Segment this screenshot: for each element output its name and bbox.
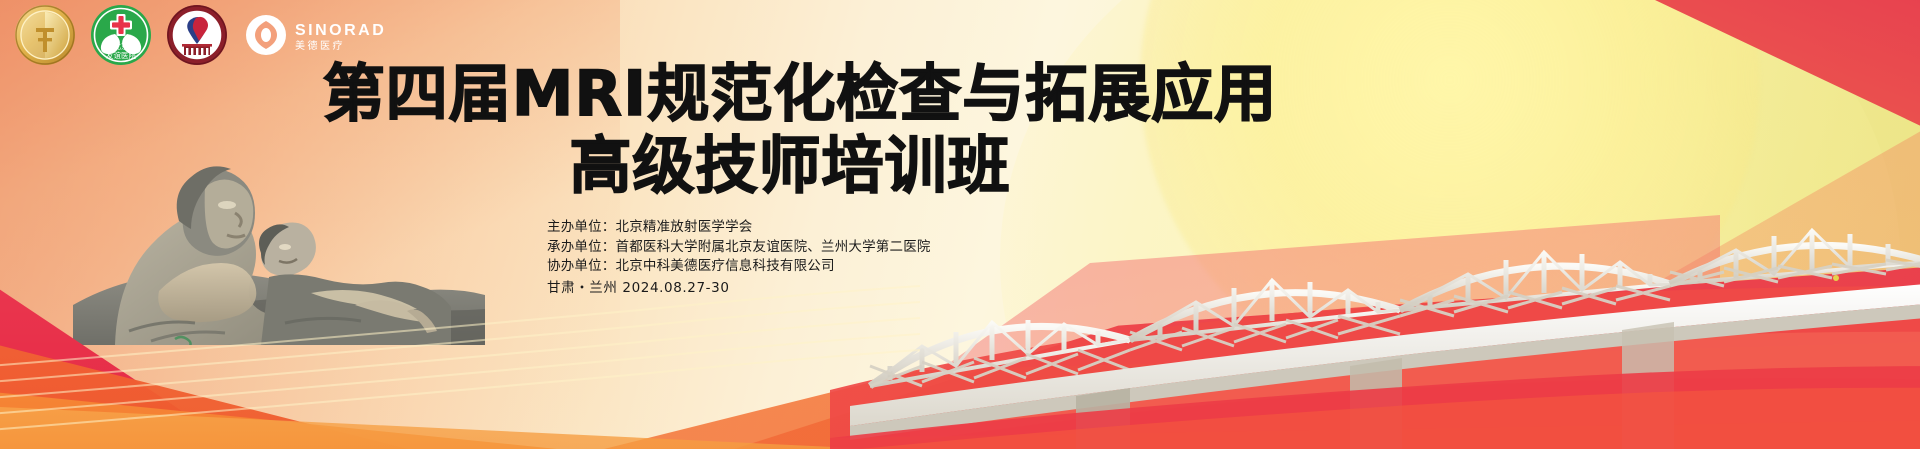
host-line: 承办单位：首都医科大学附属北京友谊医院、兰州大学第二医院 [547,238,931,258]
credits-block: 主办单位：北京精准放射医学学会 承办单位：首都医科大学附属北京友谊医院、兰州大学… [547,218,931,298]
sinorad-eye-mark [244,13,288,57]
co-organizer-line: 协办单位：北京中科美德医疗信息科技有限公司 [547,257,931,277]
beijing-precision-radiology-society-logo[interactable] [14,4,76,66]
yellow-river-mother-sculpture [55,95,485,345]
beijing-friendship-hospital-logo[interactable]: 北京 友谊医院 [90,4,152,66]
svg-text:友谊医院: 友谊医院 [106,50,136,60]
sinorad-logo[interactable]: SINORAD 美德医疗 [244,13,386,57]
zhongshan-bridge-illustration [830,190,1920,449]
conference-banner: 北京 友谊医院 [0,0,1920,449]
sinorad-brand-name: SINORAD [295,23,386,39]
svg-text:北京: 北京 [114,41,129,51]
location-date-line: 甘肃・兰州 2024.08.27-30 [547,279,931,299]
sinorad-brand-sub: 美德医疗 [295,42,386,52]
lanzhou-university-second-hospital-logo[interactable] [166,4,228,66]
sponsor-logo-strip: 北京 友谊医院 [14,4,386,66]
organizer-line: 主办单位：北京精准放射医学学会 [547,218,931,238]
